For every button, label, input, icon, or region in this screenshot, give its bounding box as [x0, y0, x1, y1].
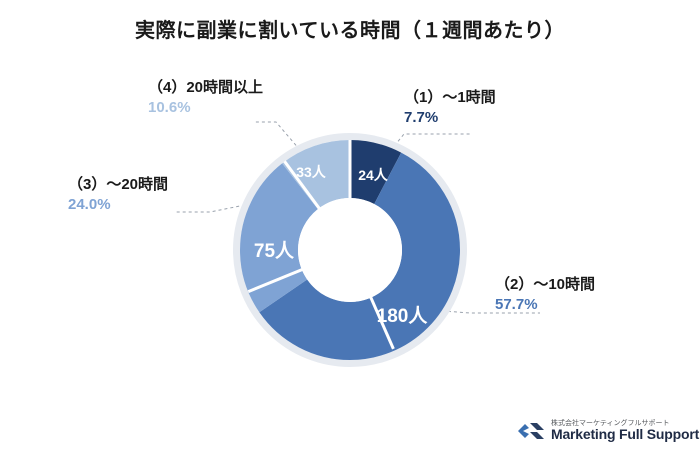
- logo-mark-icon: [518, 420, 544, 442]
- callout-label-2-name: （2）〜10時間: [495, 275, 595, 295]
- callout-label-4-pct: 10.6%: [148, 98, 263, 118]
- callout-label-3-name: （3）〜20時間: [68, 175, 168, 195]
- slice-1-value: 24人: [358, 167, 389, 183]
- callout-label-2: （2）〜10時間 57.7%: [495, 275, 595, 316]
- title-bar: 実際に副業に割いている時間（１週間あたり）: [0, 0, 700, 56]
- callout-label-4-name: （4）20時間以上: [148, 78, 263, 98]
- logo-brand-name: Marketing Full Support: [551, 427, 699, 442]
- slice-3-value: 75人: [254, 240, 295, 262]
- callout-label-3-pct: 24.0%: [68, 195, 168, 215]
- callout-label-1-pct: 7.7%: [404, 108, 496, 128]
- chart-page: 実際に副業に割いている時間（１週間あたり）: [0, 0, 700, 459]
- callout-label-3: （3）〜20時間 24.0%: [68, 175, 168, 216]
- logo-text: 株式会社マーケティングフルサポート Marketing Full Support: [551, 420, 699, 442]
- callout-label-4: （4）20時間以上 10.6%: [148, 78, 263, 119]
- page-title: 実際に副業に割いている時間（１週間あたり）: [135, 14, 565, 43]
- callout-label-2-pct: 57.7%: [495, 295, 595, 315]
- callout-label-1-name: （1）〜1時間: [404, 88, 496, 108]
- slice-2-value: 180人: [377, 305, 429, 327]
- slice-4-value: 33人: [296, 164, 327, 180]
- brand-logo: 株式会社マーケティングフルサポート Marketing Full Support: [518, 420, 699, 442]
- callout-label-1: （1）〜1時間 7.7%: [404, 88, 496, 129]
- donut-chart: 24人 180人 75人 33人: [232, 132, 468, 368]
